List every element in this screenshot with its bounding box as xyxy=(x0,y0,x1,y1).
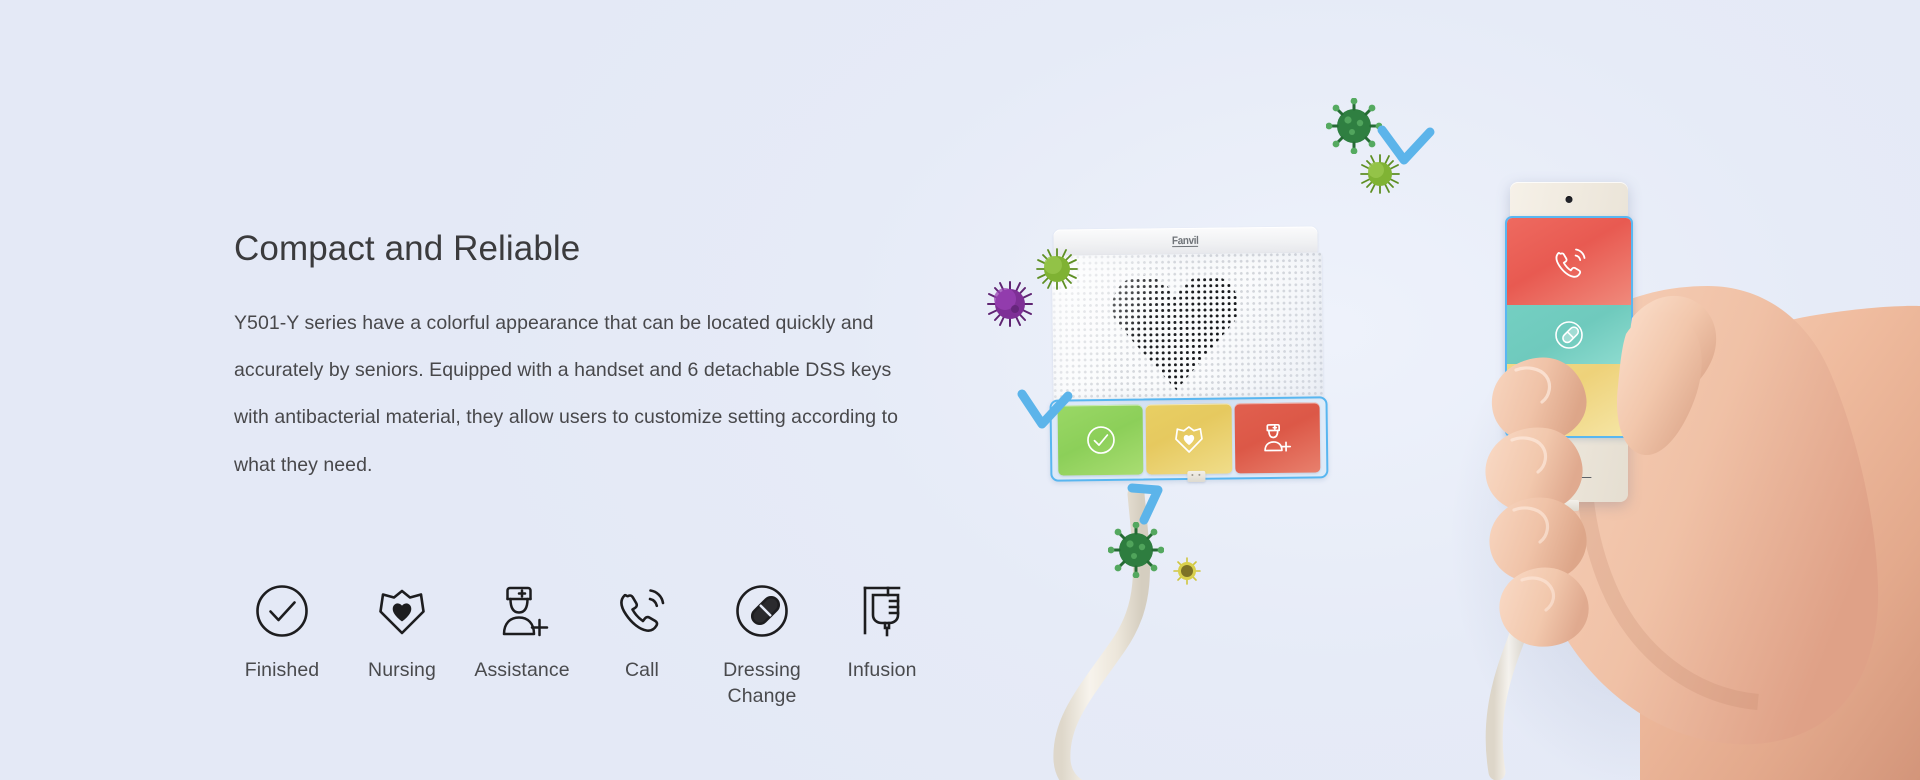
heart-outline-icon xyxy=(373,578,431,644)
pill-circle-icon xyxy=(733,578,791,644)
nurse-add-icon xyxy=(1258,421,1296,455)
phone-call-icon xyxy=(613,578,671,644)
repel-arrow-left xyxy=(1014,386,1076,438)
virus-purple xyxy=(984,278,1036,330)
legend-item-call: Call xyxy=(582,578,702,684)
legend-label: Nursing xyxy=(368,658,436,684)
hand-fingers-front xyxy=(1340,120,1920,780)
brand-logo-wall: Fanvil xyxy=(1172,235,1199,248)
check-circle-icon xyxy=(253,578,311,644)
wall-station: Fanvil xyxy=(1051,226,1324,494)
virus-green-spiky-1 xyxy=(1034,246,1080,292)
legend-item-infusion: Infusion xyxy=(822,578,942,684)
wall-cable-connector xyxy=(1187,471,1205,482)
speaker-grille xyxy=(1052,252,1324,400)
virus-yellow xyxy=(1172,556,1202,586)
nurse-add-icon xyxy=(491,578,553,644)
check-circle-icon xyxy=(1083,423,1117,457)
legend-item-nursing: Nursing xyxy=(342,578,462,684)
legend-label: DressingChange xyxy=(723,658,801,709)
dss-key-nursing[interactable] xyxy=(1146,403,1232,474)
iv-drip-icon xyxy=(853,578,911,644)
heart-outline-icon xyxy=(1171,422,1207,456)
legend-item-dressing-change: DressingChange xyxy=(702,578,822,709)
legend-label: Assistance xyxy=(474,658,569,684)
hand-holding-handset: Fanvil xyxy=(1340,120,1920,780)
station-top-cap: Fanvil xyxy=(1053,226,1317,255)
dss-key-tray xyxy=(1049,396,1328,481)
product-photo: Fanvil xyxy=(990,0,1920,780)
legend-item-assistance: Assistance xyxy=(462,578,582,684)
repel-arrow-bottom xyxy=(1122,480,1184,532)
page-title: Compact and Reliable xyxy=(234,228,954,270)
dss-key-assistance[interactable] xyxy=(1234,402,1320,473)
function-legend: Finished Nursing xyxy=(222,578,942,709)
legend-label: Infusion xyxy=(847,658,916,684)
legend-item-finished: Finished xyxy=(222,578,342,684)
legend-label: Finished xyxy=(245,658,320,684)
body-paragraph: Y501-Y series have a colorful appearance… xyxy=(234,300,924,489)
product-feature-banner: Compact and Reliable Y501-Y series have … xyxy=(0,0,1920,780)
copy-block: Compact and Reliable Y501-Y series have … xyxy=(234,228,954,489)
heart-dot-pattern xyxy=(1112,265,1240,391)
legend-label: Call xyxy=(625,658,659,684)
